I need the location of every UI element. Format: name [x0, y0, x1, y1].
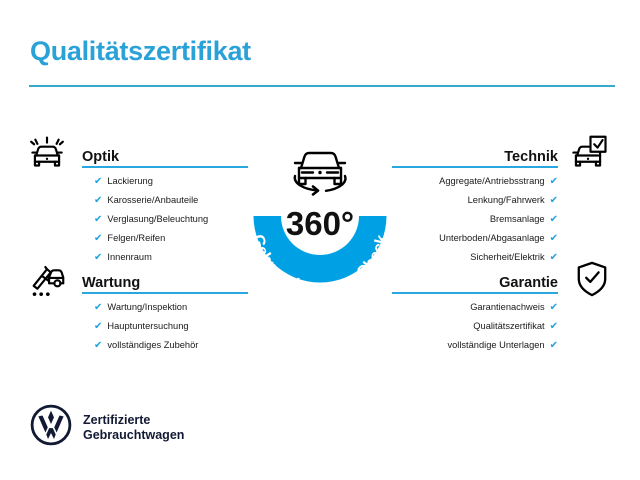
check-icon: ✔	[550, 230, 558, 248]
car-360-rotation-icon	[295, 153, 346, 195]
vw-wordmark: Zertifizierte Gebrauchtwagen	[83, 413, 184, 443]
list-item-label: vollständiges Zubehör	[107, 336, 198, 354]
section-optik: Optik ✔ Lackierung ✔ Karosserie/Anbautei…	[82, 142, 248, 168]
section-header: Garantie	[392, 268, 558, 294]
list-item-label: Aggregate/Antriebsstrang	[439, 172, 544, 190]
check-icon: ✔	[550, 192, 558, 210]
list-item: vollständige Unterlagen ✔	[392, 336, 558, 355]
check-icon: ✔	[94, 230, 102, 248]
list-item: Bremsanlage ✔	[392, 210, 558, 229]
section-underline	[392, 166, 558, 168]
check-icon: ✔	[550, 299, 558, 317]
list-item-label: Lackierung	[107, 172, 152, 190]
checklist: Aggregate/Antriebsstrang ✔ Lenkung/Fahrw…	[392, 172, 558, 267]
check-icon: ✔	[550, 173, 558, 191]
check-icon: ✔	[94, 318, 102, 336]
list-item: Lenkung/Fahrwerk ✔	[392, 191, 558, 210]
list-item: Qualitätszertifikat ✔	[392, 317, 558, 336]
check-icon: ✔	[550, 249, 558, 267]
check-icon: ✔	[94, 211, 102, 229]
badge-360-gebrauchtwagen-check: Gebrauchtwagen-Check 360°	[232, 122, 408, 318]
list-item-label: Garantienachweis	[470, 298, 544, 316]
footer-brand: Zertifizierte Gebrauchtwagen	[30, 404, 184, 451]
list-item-label: Qualitätszertifikat	[473, 317, 544, 335]
section-title: Optik	[82, 149, 119, 165]
page-title: Qualitätszertifikat	[30, 36, 251, 67]
title-divider	[29, 85, 615, 87]
section-wartung: Wartung ✔ Wartung/Inspektion ✔ Hauptunte…	[82, 268, 248, 294]
section-garantie: Garantie Garantienachweis ✔ Qualitätszer…	[392, 268, 558, 294]
section-title: Wartung	[82, 275, 140, 291]
section-title: Garantie	[499, 275, 558, 291]
list-item: ✔ Verglasung/Beleuchtung	[94, 210, 248, 229]
checklist: ✔ Lackierung ✔ Karosserie/Anbauteile ✔ V…	[82, 172, 248, 267]
vw-wordmark-line1: Zertifizierte	[83, 413, 184, 428]
check-icon: ✔	[94, 192, 102, 210]
list-item-label: Lenkung/Fahrwerk	[468, 191, 545, 209]
check-icon: ✔	[94, 249, 102, 267]
section-underline	[82, 166, 248, 168]
section-header: Optik	[82, 142, 248, 168]
certificate-page: Qualitätszertifikat	[0, 0, 640, 480]
list-item-label: Wartung/Inspektion	[107, 298, 187, 316]
list-item: ✔ vollständiges Zubehör	[94, 336, 248, 355]
list-item: ✔ Hauptuntersuchung	[94, 317, 248, 336]
list-item: ✔ Karosserie/Anbauteile	[94, 191, 248, 210]
car-wrench-service-icon	[27, 260, 67, 305]
check-icon: ✔	[550, 337, 558, 355]
shield-check-icon	[575, 260, 609, 303]
section-technik: Technik Aggregate/Antriebsstrang ✔ Lenku…	[392, 142, 558, 168]
check-icon: ✔	[94, 337, 102, 355]
car-checkbox-icon	[568, 133, 608, 178]
vw-wordmark-line2: Gebrauchtwagen	[83, 428, 184, 443]
list-item: Garantienachweis ✔	[392, 298, 558, 317]
list-item-label: Bremsanlage	[490, 210, 545, 228]
list-item-label: Hauptuntersuchung	[107, 317, 188, 335]
list-item-label: Innenraum	[107, 248, 151, 266]
check-icon: ✔	[94, 299, 102, 317]
list-item: ✔ Felgen/Reifen	[94, 229, 248, 248]
list-item: ✔ Innenraum	[94, 248, 248, 267]
checklist: ✔ Wartung/Inspektion ✔ Hauptuntersuchung…	[82, 298, 248, 355]
list-item: ✔ Lackierung	[94, 172, 248, 191]
check-icon: ✔	[550, 318, 558, 336]
list-item: Unterboden/Abgasanlage ✔	[392, 229, 558, 248]
list-item: Sicherheit/Elektrik ✔	[392, 248, 558, 267]
list-item-label: Verglasung/Beleuchtung	[107, 210, 208, 228]
section-title: Technik	[504, 149, 558, 165]
vw-logo	[30, 404, 72, 451]
check-icon: ✔	[550, 211, 558, 229]
section-underline	[392, 292, 558, 294]
list-item: ✔ Wartung/Inspektion	[94, 298, 248, 317]
list-item-label: Unterboden/Abgasanlage	[439, 229, 544, 247]
list-item-label: vollständige Unterlagen	[447, 336, 544, 354]
badge-center-label: 360°	[286, 205, 354, 242]
list-item-label: Sicherheit/Elektrik	[470, 248, 544, 266]
section-header: Wartung	[82, 268, 248, 294]
list-item-label: Felgen/Reifen	[107, 229, 165, 247]
section-underline	[82, 292, 248, 294]
section-header: Technik	[392, 142, 558, 168]
car-front-shine-icon	[27, 133, 67, 178]
list-item-label: Karosserie/Anbauteile	[107, 191, 198, 209]
list-item: Aggregate/Antriebsstrang ✔	[392, 172, 558, 191]
check-icon: ✔	[94, 173, 102, 191]
checklist: Garantienachweis ✔ Qualitätszertifikat ✔…	[392, 298, 558, 355]
